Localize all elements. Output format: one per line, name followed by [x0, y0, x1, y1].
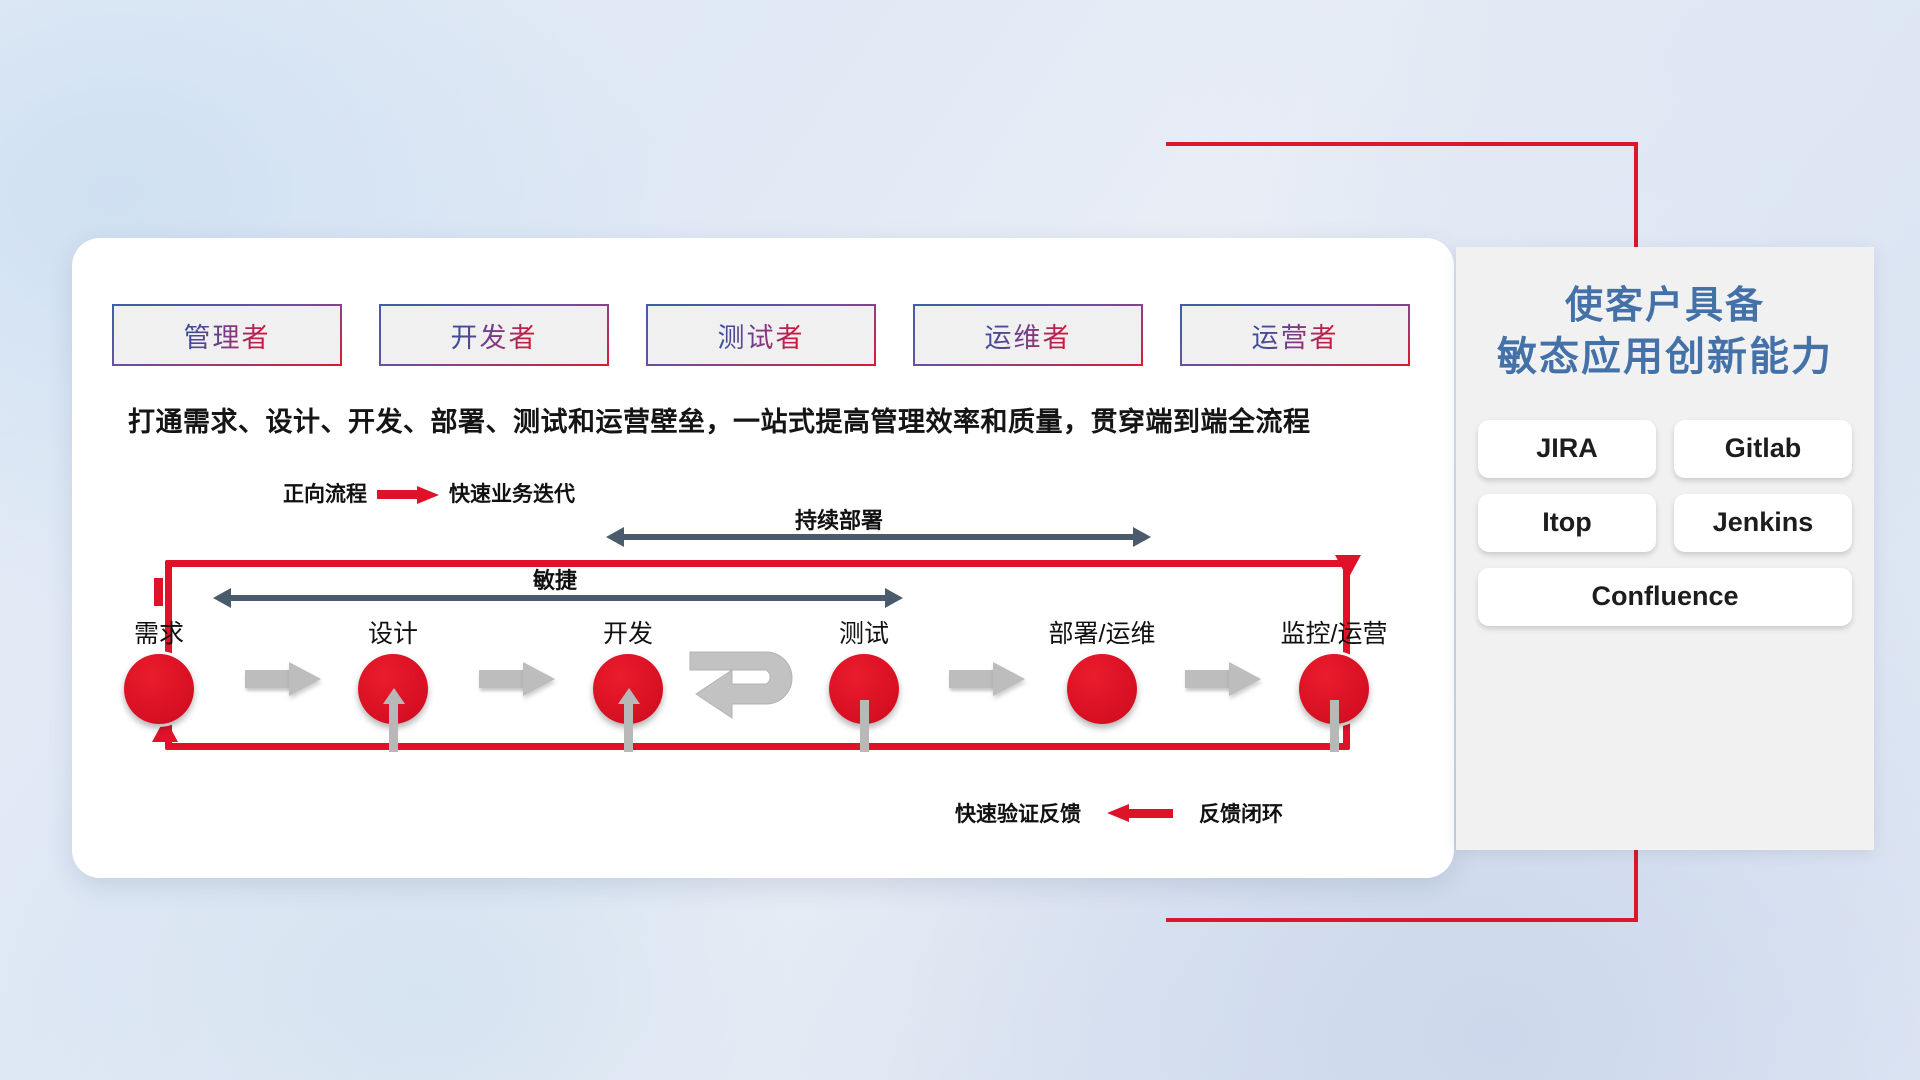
- feedback-result-label: 快速验证反馈: [955, 798, 1081, 828]
- stage-node-deploy-ops[interactable]: 部署/运维: [1027, 614, 1177, 724]
- stage-label: 部署/运维: [1027, 614, 1177, 650]
- stage-label: 需求: [84, 614, 234, 650]
- stage-label: 设计: [318, 614, 468, 650]
- feeder-tick-test: [860, 700, 869, 752]
- arrow-left-red-icon: [1107, 804, 1173, 822]
- stage-node-requirement[interactable]: 需求: [84, 614, 234, 724]
- stage-dot: [1067, 654, 1137, 724]
- stage-label: 开发: [553, 614, 703, 650]
- feedback-legend: 快速验证反馈 反馈闭环: [955, 798, 1283, 828]
- process-flow: 需求 设计 开发 测试 部署/运维 监控/运营: [0, 0, 1920, 1080]
- feedback-loop-label: 反馈闭环: [1199, 798, 1283, 828]
- feeder-arrow-dev-icon: [618, 688, 640, 704]
- feeder-arrow-design-icon: [383, 688, 405, 704]
- slide-canvas: 管理者 开发者 测试者 运维者 运营者 打通需求、设计、开发、部署、测试和运营壁…: [0, 0, 1920, 1080]
- loop-back-arrow-icon: [688, 640, 816, 732]
- feeder-tick-monitor: [1330, 700, 1339, 752]
- connector-arrow-2-icon: [479, 662, 555, 696]
- stage-label: 监控/运营: [1259, 614, 1409, 650]
- feeder-tick-design: [389, 700, 398, 752]
- feeder-tick-red: [154, 578, 163, 606]
- feeder-tick-dev: [624, 700, 633, 752]
- connector-arrow-4-icon: [949, 662, 1025, 696]
- connector-arrow-5-icon: [1185, 662, 1261, 696]
- stage-dot: [124, 654, 194, 724]
- connector-arrow-1-icon: [245, 662, 321, 696]
